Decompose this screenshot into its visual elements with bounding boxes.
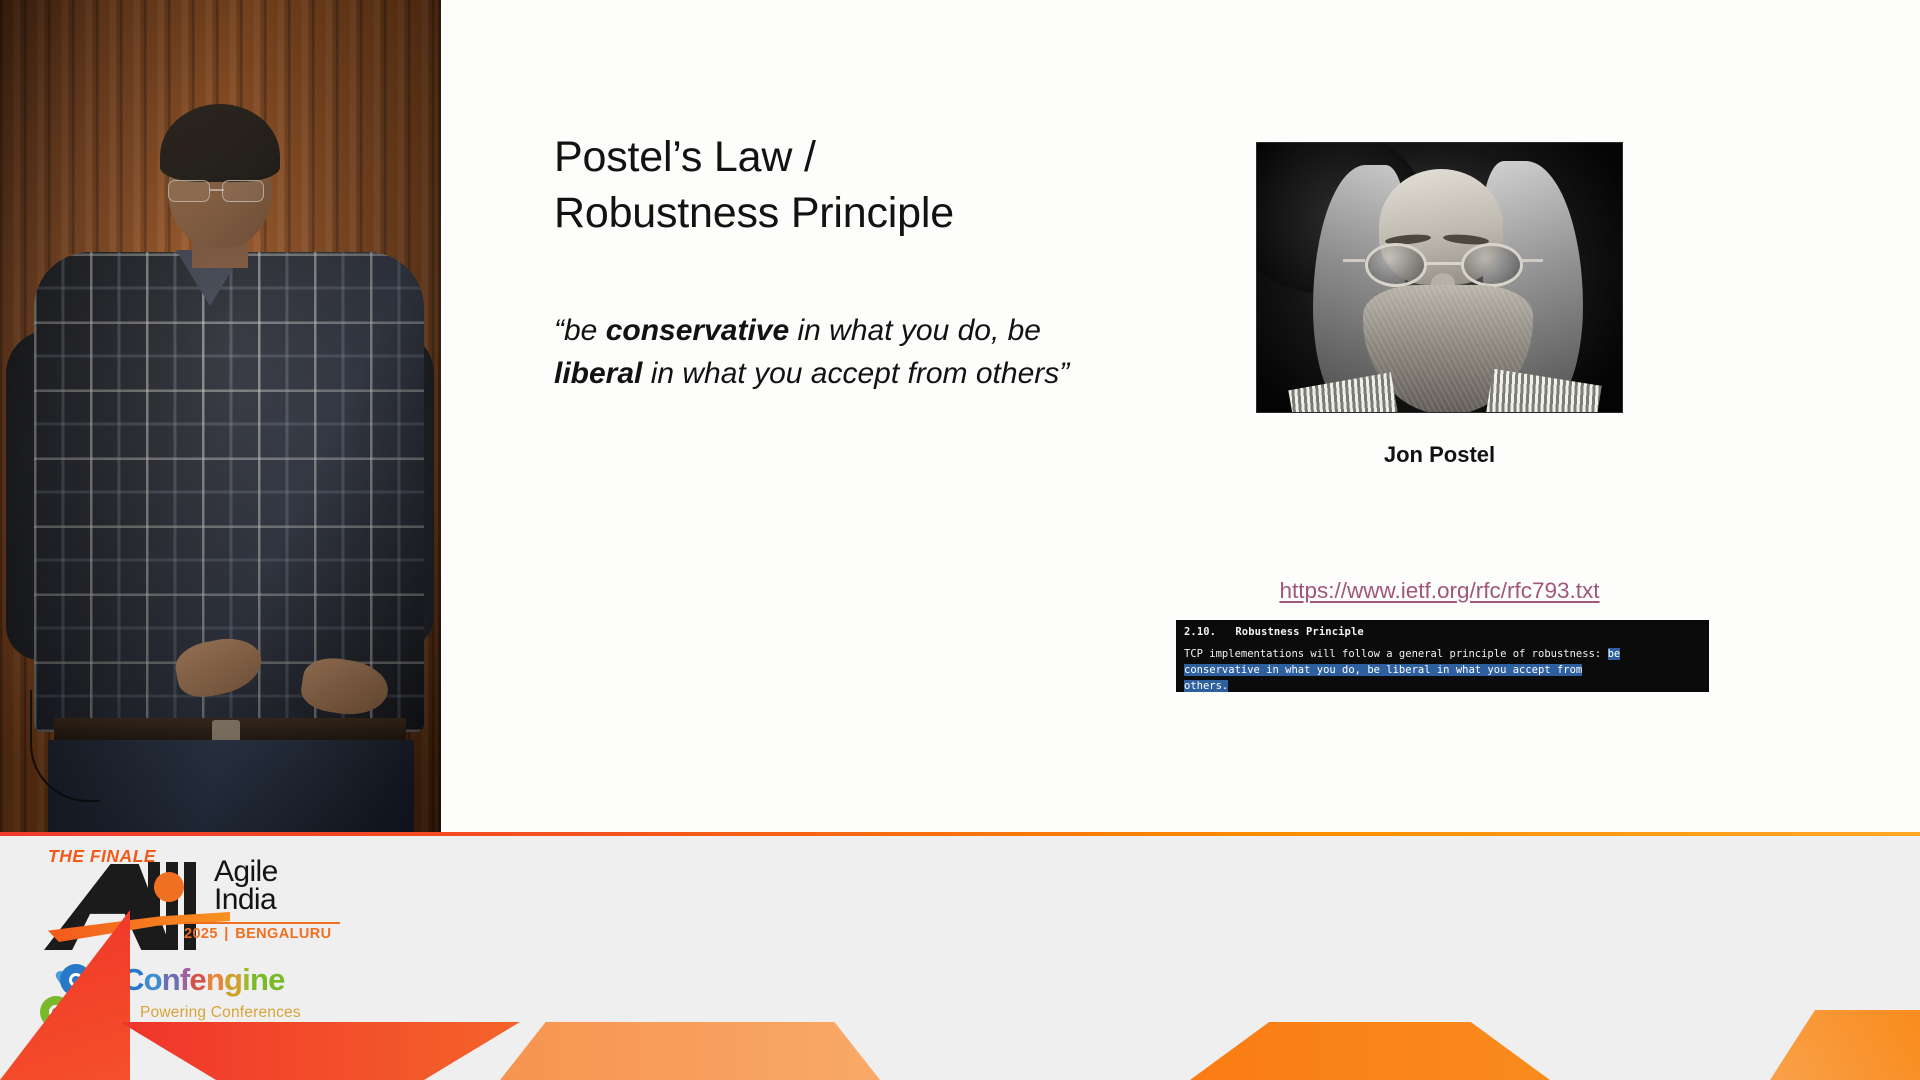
rfc-section-heading: 2.10. Robustness Principle (1184, 625, 1701, 641)
confengine-letter: n (162, 962, 180, 997)
confengine-letter: e (189, 962, 205, 997)
rfc-body-text: TCP implementations will follow a genera… (1184, 647, 1701, 692)
confengine-letter: n (206, 962, 224, 997)
confengine-wordmark: Confengine (122, 962, 285, 998)
slide-title-line-2: Robustness Principle (554, 186, 1214, 242)
slide-title-line-1: Postel’s Law / (554, 130, 1214, 186)
rfc793-terminal-excerpt: 2.10. Robustness Principle TCP implement… (1176, 620, 1709, 692)
rfc-section-number: 2.10. (1184, 626, 1216, 638)
rfc-body-prefix: TCP implementations will follow a genera… (1184, 648, 1601, 660)
quote-open: “be (554, 314, 606, 347)
agile-india-year-city: 2025 | BENGALURU (184, 926, 342, 942)
jon-postel-portrait-block: Jon Postel (1256, 142, 1623, 468)
decorative-chevron-right-wedge (1770, 1010, 1920, 1080)
decorative-chevron-red (120, 1022, 520, 1080)
lower-third-accent-rule (0, 832, 1920, 836)
speaker-video-feed[interactable] (0, 0, 441, 832)
agile-india-word-line-1: Agile (214, 858, 340, 886)
confengine-letter: f (180, 962, 190, 997)
conference-stream-stage: Postel’s Law / Robustness Principle “be … (0, 0, 1920, 1080)
agile-india-wordmark: Agile India (214, 858, 340, 914)
agile-india-word-line-2: India (214, 886, 340, 914)
event-separator: | (222, 926, 230, 942)
confengine-letter: e (268, 962, 284, 997)
sponsor-lower-third: THE FINALE Agile India 2025 | BENGALURU (0, 832, 1920, 1080)
confengine-letter: n (250, 962, 268, 997)
rfc793-reference-link[interactable]: https://www.ietf.org/rfc/rfc793.txt (1256, 578, 1623, 604)
portrait-caption: Jon Postel (1256, 442, 1623, 468)
rfc-highlight-3: others. (1184, 680, 1228, 692)
decorative-chevron-orange (1190, 1022, 1550, 1080)
agile-india-logo[interactable]: Agile India 2025 | BENGALURU (38, 860, 338, 952)
quote-emphasis-liberal: liberal (554, 357, 642, 390)
postels-law-quote: “be conservative in what you do, be libe… (554, 310, 1114, 396)
quote-emphasis-conservative: conservative (606, 314, 789, 347)
event-year: 2025 (184, 926, 218, 942)
rfc-highlight-1: be (1608, 648, 1621, 660)
confengine-letter: o (144, 962, 162, 997)
slide-title: Postel’s Law / Robustness Principle (554, 130, 1214, 242)
confengine-letter: g (224, 962, 242, 997)
camera-vignette (0, 0, 441, 832)
rfc-section-title: Robustness Principle (1235, 626, 1363, 638)
broadcast-area: Postel’s Law / Robustness Principle “be … (0, 0, 1920, 832)
confengine-tagline: Powering Conferences (140, 1004, 301, 1022)
presentation-slide: Postel’s Law / Robustness Principle “be … (441, 0, 1920, 832)
rfc-highlight-2: conservative in what you do, be liberal … (1184, 664, 1582, 676)
event-city: BENGALURU (235, 926, 331, 942)
quote-middle: in what you do, be (789, 314, 1041, 347)
agile-india-orange-dot-icon (154, 872, 184, 902)
quote-end: in what you accept from others” (642, 357, 1069, 390)
jon-postel-photo (1256, 142, 1623, 413)
agile-india-divider (184, 922, 340, 924)
confengine-letter: i (242, 962, 250, 997)
decorative-chevron-light-orange (500, 1022, 880, 1080)
